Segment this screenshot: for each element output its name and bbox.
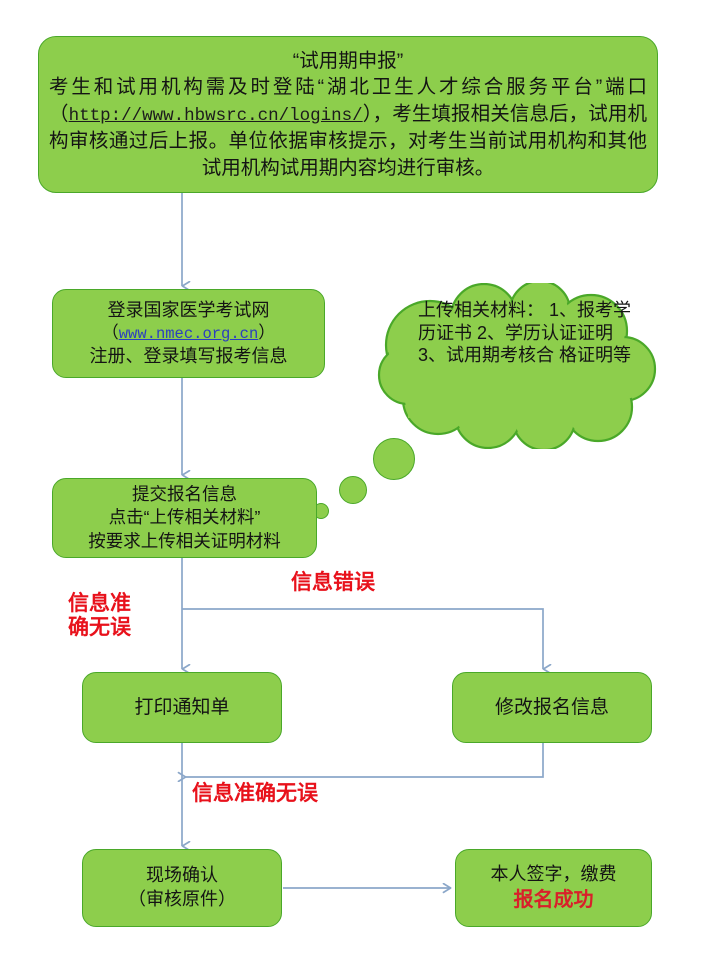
submit-line-1: 提交报名信息 [132,483,237,506]
edge-label-info-error: 信息错误 [291,571,375,595]
login-line-1: 登录国家医学考试网 [108,299,270,323]
intro-body: 考生和试用机构需及时登陆“湖北卫生人才综合服务平台”端口（http://www.… [49,74,647,181]
node-registration-success: 本人签字，缴费 报名成功 [455,849,652,927]
node-print-notice: 打印通知单 [82,672,282,743]
node-onsite-confirmation: 现场确认 （审核原件） [82,849,282,927]
cloud-line-5: 格证明等 [559,345,631,365]
hbwsrc-url-link[interactable]: http://www.hbwsrc.cn/logins/ [69,106,363,126]
cloud-line-3: 2、学历认证证明 [477,323,613,343]
cloud-line-1: 上传相关材料： [418,300,544,320]
onsite-line-2: （审核原件） [128,888,236,912]
paren-open: （ [102,323,119,342]
flowchart-root: “试用期申报” 考生和试用机构需及时登陆“湖北卫生人才综合服务平台”端口（htt… [0,0,704,960]
edge-label-info-correct-bottom: 信息准确无误 [192,782,318,806]
connector-modify-back-to-spine [186,743,543,777]
submit-line-2: 点击“上传相关材料” [109,506,261,529]
print-line-1: 打印通知单 [134,695,229,720]
node-intro-notice: “试用期申报” 考生和试用机构需及时登陆“湖北卫生人才综合服务平台”端口（htt… [38,36,658,193]
connector-submit-to-modify [182,609,543,669]
nmec-url-link[interactable]: www.nmec.org.cn [119,325,259,343]
cloud-callout-materials: 上传相关材料： 1、报考学历证书 2、学历认证证明 3、试用期考核合 格证明等 [372,283,660,449]
callout-bubble-medium [339,476,367,504]
node-login-nmec: 登录国家医学考试网 （www.nmec.org.cn） 注册、登录填写报考信息 [52,289,325,378]
submit-line-3: 按要求上传相关证明材料 [88,530,281,553]
intro-heading: “试用期申报” [293,48,404,75]
edge-label-info-correct-top: 信息准 确无误 [68,592,131,639]
modify-line-1: 修改报名信息 [495,695,609,720]
cloud-text-block: 上传相关材料： 1、报考学历证书 2、学历认证证明 3、试用期考核合 格证明等 [418,299,636,367]
paren-close: ） [258,323,275,342]
node-submit-registration: 提交报名信息 点击“上传相关材料” 按要求上传相关证明材料 [52,478,317,558]
cloud-line-4: 3、试用期考核合 [418,345,554,365]
success-status-text: 报名成功 [514,887,594,913]
success-line-1: 本人签字，缴费 [491,863,617,887]
node-modify-registration: 修改报名信息 [452,672,652,743]
callout-bubble-large [373,438,415,480]
login-url-line: （www.nmec.org.cn） [102,322,276,344]
onsite-line-1: 现场确认 [146,864,218,888]
login-line-3: 注册、登录填写报考信息 [90,345,288,369]
